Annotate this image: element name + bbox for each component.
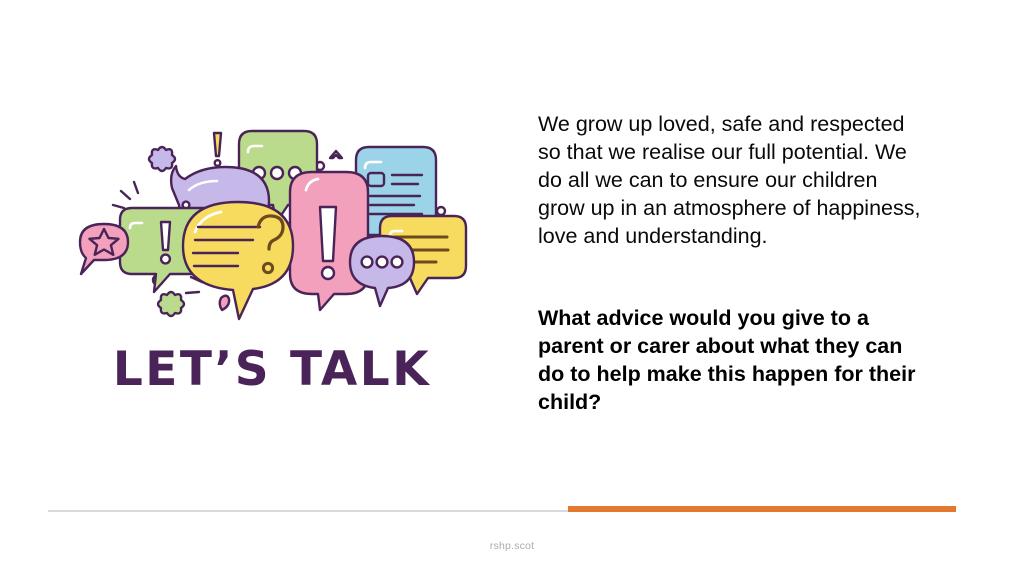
purple-flower-accent [149, 147, 175, 171]
divider-orange [568, 506, 956, 512]
yellow-chevron-accent [330, 151, 342, 158]
lets-talk-wordmark: LET’S TALK [62, 346, 482, 393]
yellow-exclamation-accent [214, 133, 221, 166]
pink-heart-accent [220, 296, 229, 310]
footer-site-label: rshp.scot [0, 540, 1024, 552]
slide-canvas: LET’S TALK We grow up loved, safe and re… [0, 0, 1024, 576]
spark-lines-left [113, 182, 138, 208]
small-circle-accent-b [437, 207, 445, 215]
pink-exclamation-bubble [290, 172, 368, 310]
yellow-question-bubble [183, 202, 293, 319]
divider-gray [48, 510, 568, 512]
text-column: We grow up loved, safe and respected so … [538, 110, 924, 416]
purple-dots-bubble [350, 236, 414, 306]
question-paragraph: What advice would you give to a parent o… [538, 250, 924, 416]
green-flower-accent [158, 292, 184, 316]
lets-talk-illustration: LET’S TALK [62, 110, 482, 420]
body-paragraph: We grow up loved, safe and respected so … [538, 110, 924, 250]
speech-bubbles-graphic [62, 110, 482, 342]
